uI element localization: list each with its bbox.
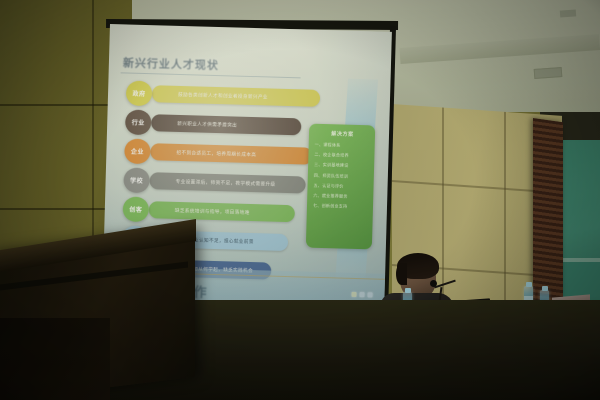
dot-icon: [367, 292, 372, 297]
slide-title: 新兴行业人才现状: [123, 54, 219, 73]
solution-item: 五、认证与评价: [313, 182, 368, 190]
list-item: 鼓励各类创新人才和创业者投身新兴产业 政府: [126, 80, 337, 113]
photo-scene: 新兴行业人才现状 ? 鼓励各类创新人才和创业者投身新兴产业 政府 新兴职业人才供…: [0, 0, 600, 400]
microphone-arm: [434, 280, 456, 289]
bottle-cap: [526, 282, 532, 287]
solution-panel-title: 解决方案: [315, 130, 370, 139]
title-divider: [121, 72, 301, 78]
solution-item: 一、课程体系: [315, 142, 370, 150]
solution-item: 四、师资队伍培训: [314, 172, 369, 180]
row-label: 学校: [123, 167, 150, 193]
row-text: 招不到合适员工，培养周期长成本高: [150, 143, 312, 165]
row-text: 新兴职业人才供需矛盾突出: [151, 114, 301, 135]
ceiling-vent-secondary-icon: [560, 9, 576, 17]
microphone-icon: [430, 280, 437, 287]
list-item: 招不到合适员工，培养周期长成本高 企业: [124, 138, 335, 171]
lectern-base: [0, 318, 110, 400]
row-text: 缺乏系统培训与指导，项目落地难: [149, 201, 295, 222]
slide-page-dots: [351, 292, 372, 298]
ceiling-vent-icon: [534, 67, 563, 79]
row-text: 专业设置滞后，师资不足，教学模式需要升级: [149, 172, 305, 193]
presenter-hair-side: [396, 263, 407, 285]
dot-icon: [351, 292, 356, 297]
list-item: 专业设置滞后，师资不足，教学模式需要升级 学校: [123, 167, 334, 200]
bottle-cap: [542, 286, 548, 291]
solution-item: 七、创新创业支持: [313, 203, 368, 211]
bottle-cap: [405, 288, 411, 293]
list-item: 新兴职业人才供需矛盾突出 行业: [125, 109, 336, 142]
row-label: 行业: [125, 109, 152, 135]
row-label: 企业: [124, 138, 151, 164]
solution-item: 二、校企联合培养: [314, 152, 369, 160]
row-label: 政府: [126, 80, 153, 106]
solution-panel: 解决方案 一、课程体系 二、校企联合培养 三、实训基地建设 四、师资队伍培训 五…: [306, 124, 375, 250]
row-text: 鼓励各类创新人才和创业者投身新兴产业: [152, 85, 320, 107]
dot-icon: [359, 292, 364, 297]
list-item: 缺乏系统培训与指导，项目落地难 创客: [122, 196, 333, 229]
solution-item: 六、就业推荐服务: [313, 193, 368, 201]
solution-item: 三、实训基地建设: [314, 162, 369, 170]
row-label: 创客: [122, 196, 149, 222]
